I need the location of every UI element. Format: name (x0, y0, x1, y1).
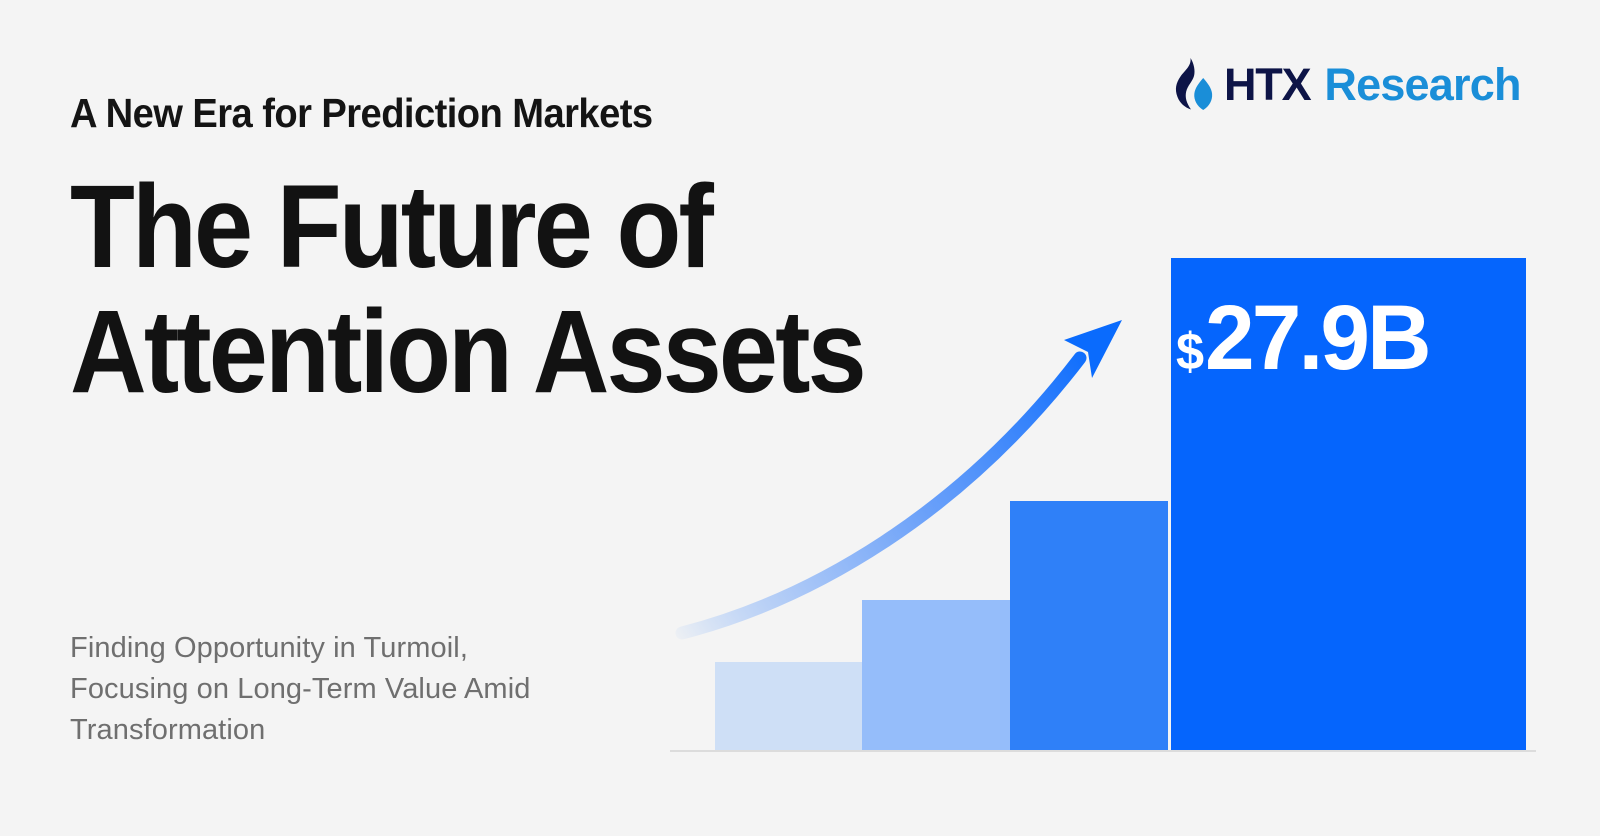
brand-wordmark: HTX Research (1224, 57, 1521, 113)
subtitle-text: Finding Opportunity in Turmoil, Focusing… (70, 628, 530, 752)
currency-symbol: $ (1176, 326, 1203, 378)
subtitle-line-1: Finding Opportunity in Turmoil, (70, 628, 530, 669)
brand-name-secondary: Research (1324, 57, 1520, 113)
subtitle-line-3: Transformation (70, 710, 530, 751)
upward-trend-arrow-icon (660, 300, 1140, 650)
chart-bar-1 (715, 662, 863, 750)
brand-name-primary: HTX (1224, 57, 1310, 113)
chart-value-label: $ 27.9B (1176, 292, 1429, 384)
chart-baseline-axis (670, 750, 1536, 752)
htx-flame-droplet-icon (1172, 57, 1214, 113)
value-amount: 27.9B (1205, 292, 1429, 384)
subtitle-line-2: Focusing on Long-Term Value Amid (70, 669, 530, 710)
poster-canvas: HTX Research A New Era for Prediction Ma… (0, 0, 1600, 836)
htx-research-logo: HTX Research (1172, 55, 1521, 115)
eyebrow-text: A New Era for Prediction Markets (70, 92, 653, 135)
